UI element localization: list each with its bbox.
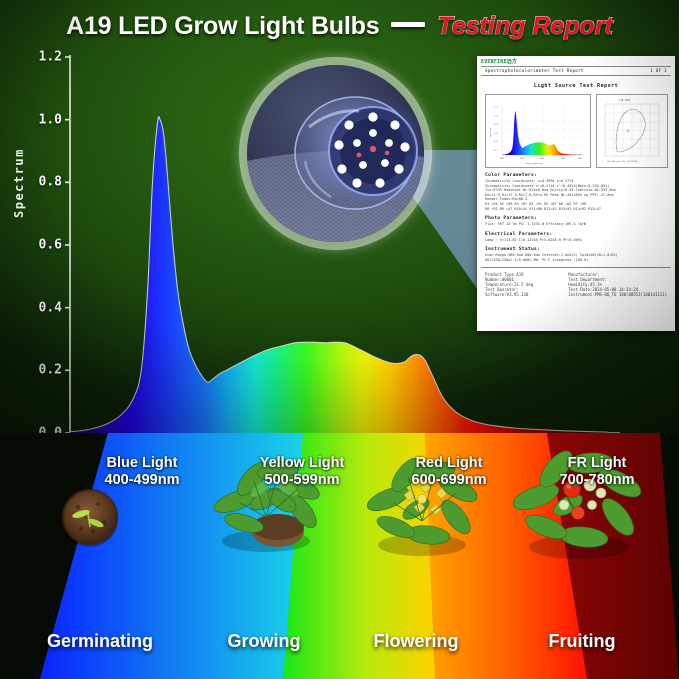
svg-text:CIE 1931: CIE 1931: [619, 99, 631, 102]
svg-text:x=0.399 y=0.371 CIE:3745K: x=0.399 y=0.371 CIE:3745K: [607, 161, 638, 163]
plant-leafy-plant: [200, 445, 328, 563]
report-footer-right-column: Manufacturer:Test Department:Humidity:45…: [568, 272, 667, 298]
plant-fruiting-plant: [506, 439, 652, 567]
report-body: Color Parameters:Chromaticity Coordinate…: [477, 173, 675, 263]
svg-text:Wavelength(nm): Wavelength(nm): [526, 162, 543, 165]
title-main-text: A19 LED Grow Light Bulbs: [66, 12, 379, 41]
report-section-lines-1: Flux: 997.13 lm PA: 1.7434 W Efficacy:10…: [485, 222, 667, 227]
growth-stage-bands: Blue Light 400-499nm Yellow Light 500-59…: [0, 433, 679, 679]
report-line-3-1: AUT=250/250x2 I=5.000% BW: PC-F Integrat…: [485, 258, 667, 263]
report-section-heading-1: Photo Parameters:: [485, 216, 675, 221]
bulb-photo: [239, 57, 432, 250]
report-section-lines-3: Scan Range:380.0nm-800.0nm Interval:1.0n…: [485, 253, 667, 262]
page-title: A19 LED Grow Light Bulbs Testing Report: [0, 6, 679, 46]
infographic-root: A19 LED Grow Light Bulbs Testing Report …: [0, 0, 679, 679]
report-line-0-6: R8 =92 R9 =47 R10=44 R11=88 R12=43 R13=9…: [485, 207, 667, 212]
report-footer: Product Type:A19Number:00001Temperature:…: [485, 272, 667, 298]
title-separator-dash: [391, 22, 425, 27]
report-figures: 1.21.00.8 0.60.40.2 380500600 700800 Wav…: [477, 94, 675, 168]
report-footer-rule: [481, 267, 671, 268]
report-header-right: 1 OF 1: [650, 68, 667, 73]
report-section-lines-2: Lamp : V=113.8V I=0.1234A P=5.0248 W PF=…: [485, 238, 667, 243]
bulb-photo-disc: [247, 65, 424, 242]
test-report-document[interactable]: EVERFINE远方 Spectrophotocolorimeter Test …: [477, 56, 675, 331]
report-logo: EVERFINE远方: [477, 56, 675, 65]
report-header-left: Spectrophotocolorimeter Test Report: [485, 68, 584, 73]
report-line-1-0: Flux: 997.13 lm PA: 1.7434 W Efficacy:10…: [485, 222, 667, 227]
report-spectrum-figure: 1.21.00.8 0.60.40.2 380500600 700800 Wav…: [485, 94, 591, 168]
plant-flowering-plant: [358, 447, 486, 565]
report-section-lines-0: Chromaticity Coordinate: x=0.3994 y=0.37…: [485, 179, 667, 211]
report-section-heading-2: Electrical Parameters:: [485, 232, 675, 237]
report-footer-left-column: Product Type:A19Number:00001Temperature:…: [485, 272, 562, 298]
report-section-heading-0: Color Parameters:: [485, 173, 675, 178]
report-logo-text: EVERFINE: [481, 59, 507, 65]
report-header: Spectrophotocolorimeter Test Report 1 OF…: [477, 67, 675, 74]
plant-seedling-sprout: [46, 473, 134, 561]
report-section-heading-3: Instrument Status:: [485, 247, 675, 252]
report-logo-cn: 远方: [507, 59, 517, 65]
report-header-rule-2: [481, 75, 671, 76]
svg-text:Spectrum: Spectrum: [489, 127, 492, 137]
title-accent-text: Testing Report: [437, 12, 612, 41]
report-footer-left-line-4: Software:V3.95.130: [485, 292, 562, 297]
report-line-2-0: Lamp : V=113.8V I=0.1234A P=5.0248 W PF=…: [485, 238, 667, 243]
report-doc-title: Light Source Test Report: [477, 83, 675, 89]
report-cie-diagram-figure: CIE 1931 x=0.399 y=0.371 CIE:3745K: [596, 94, 668, 168]
report-footer-right-line-4: Instrument:PMS-80_T6 180(80553/180141111…: [568, 292, 667, 297]
